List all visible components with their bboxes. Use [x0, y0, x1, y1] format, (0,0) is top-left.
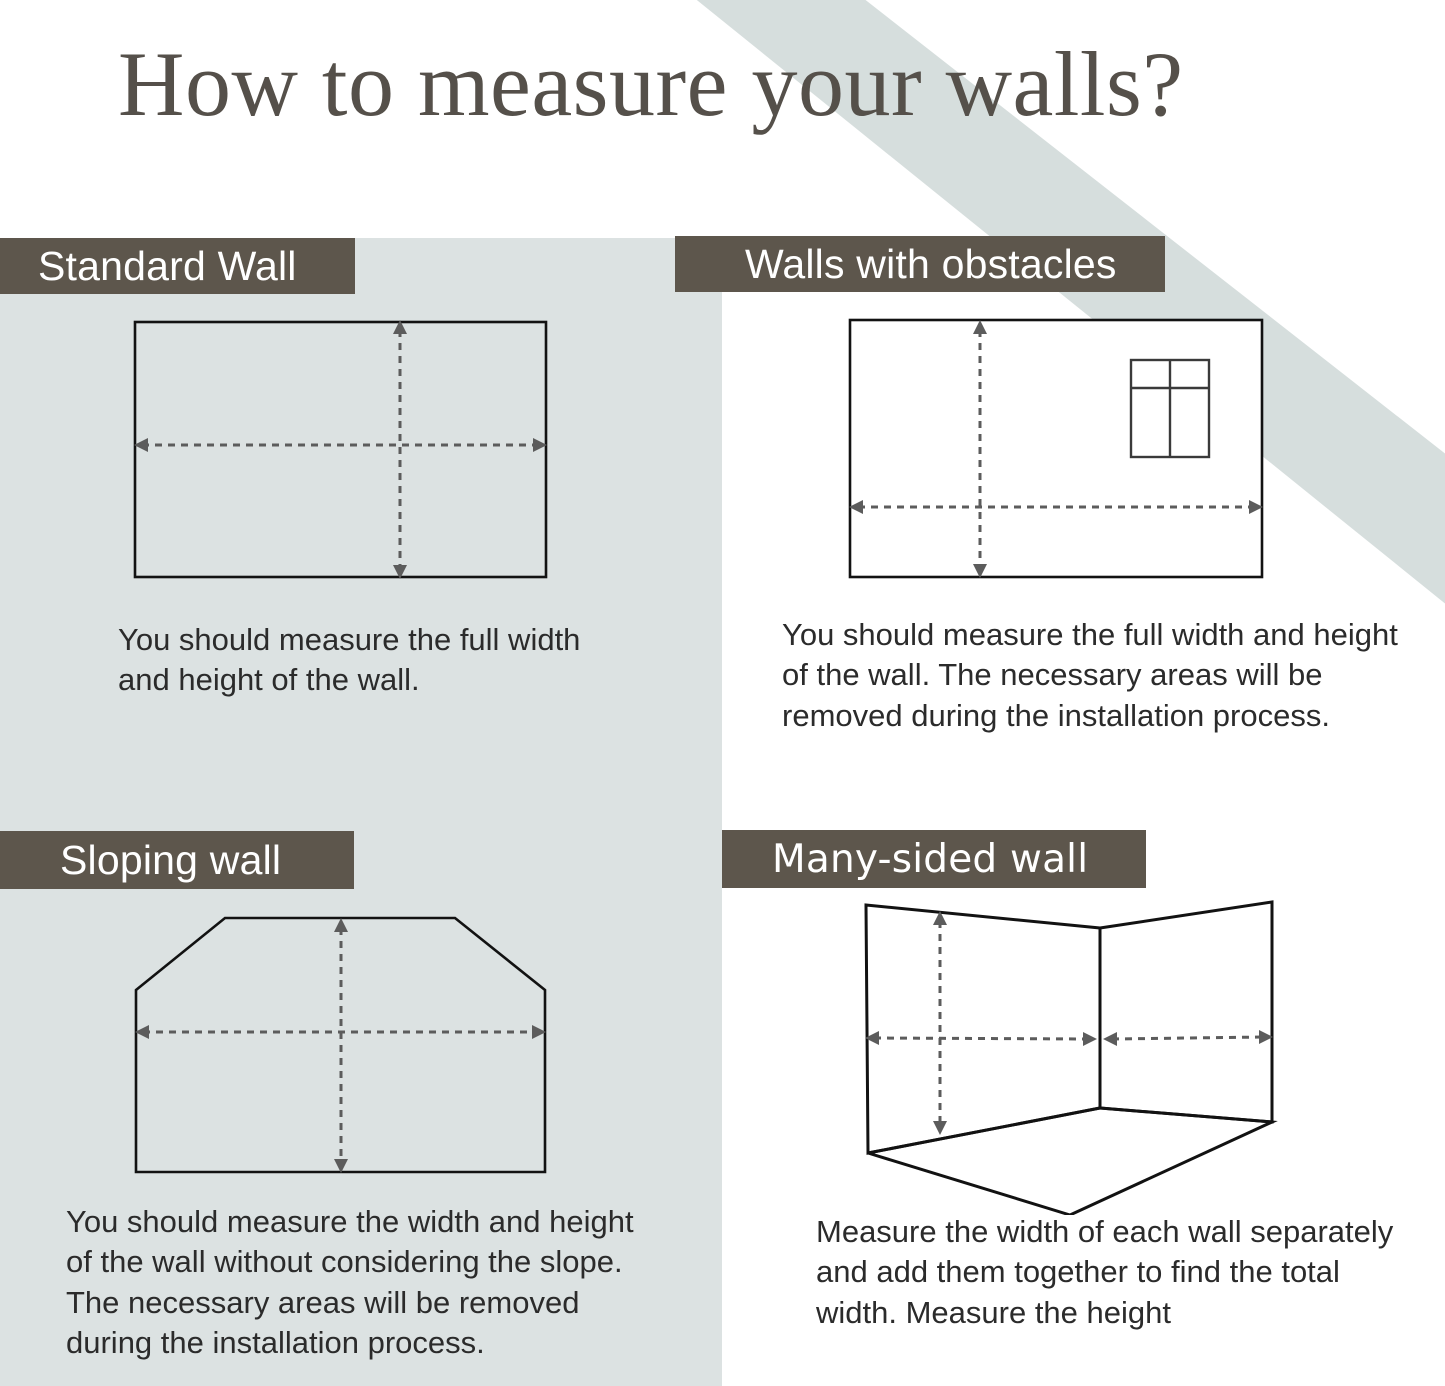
caption-many-sided-wall: Measure the width of each wall separatel… — [816, 1212, 1426, 1333]
section-heading-many-sided-wall: Many-sided wall — [722, 830, 1146, 888]
sloping-wall-hexagon-diagram — [110, 890, 580, 1200]
standard-wall-rectangle-diagram — [110, 300, 580, 600]
section-heading-standard-wall: Standard Wall — [0, 238, 355, 294]
caption-walls-with-obstacles: You should measure the full width and he… — [782, 615, 1422, 736]
section-heading-label: Standard Wall — [38, 246, 297, 287]
infographic-page: How to measure your walls? Standard Wall… — [0, 0, 1445, 1386]
section-heading-sloping-wall: Sloping wall — [0, 831, 354, 889]
corner-room-perspective-diagram — [840, 885, 1310, 1215]
section-heading-walls-with-obstacles: Walls with obstacles — [675, 236, 1165, 292]
caption-standard-wall: You should measure the full width and he… — [118, 620, 618, 701]
caption-sloping-wall: You should measure the width and height … — [66, 1202, 666, 1363]
page-title: How to measure your walls? — [118, 36, 1318, 133]
section-heading-label: Sloping wall — [60, 840, 281, 881]
section-heading-label: Many-sided wall — [772, 840, 1088, 879]
wall-with-window-diagram — [830, 300, 1290, 600]
section-heading-label: Walls with obstacles — [745, 244, 1117, 285]
